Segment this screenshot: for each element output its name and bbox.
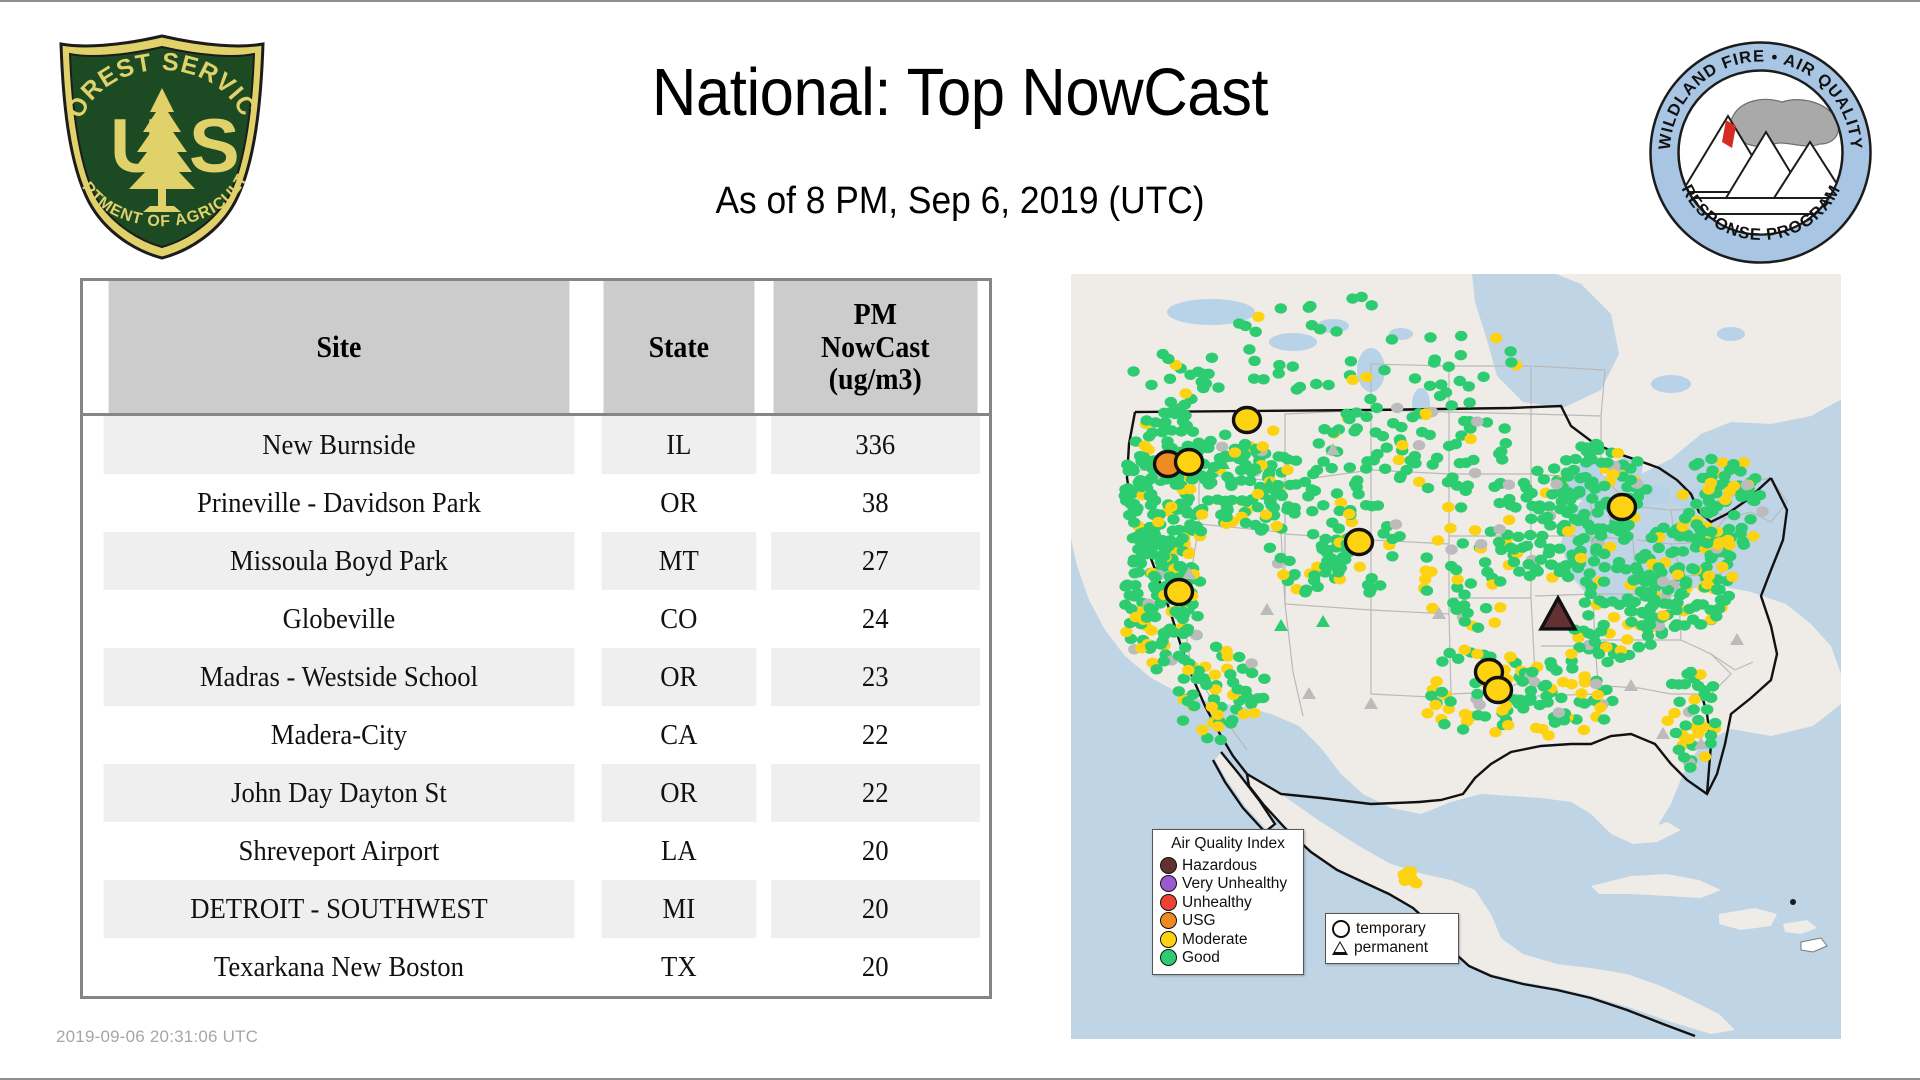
monitor-dot [1122, 483, 1134, 493]
site-type-permanent-label: permanent [1354, 940, 1428, 956]
monitor-dot [1675, 588, 1687, 598]
monitor-dot [1429, 700, 1441, 710]
monitor-dot [1143, 603, 1155, 613]
monitor-dot [1715, 595, 1727, 605]
monitor-dot [1145, 380, 1157, 390]
monitor-dot [1304, 301, 1316, 311]
monitor-dot [1479, 557, 1491, 567]
monitor-dot [1463, 397, 1475, 407]
monitor-dot [1607, 469, 1619, 479]
monitor-dot [1128, 591, 1140, 601]
monitor-dot [1268, 502, 1280, 512]
page-title: National: Top NowCast [426, 54, 1493, 131]
monitor-dot [1706, 465, 1718, 475]
monitor-dot [1198, 673, 1210, 683]
monitor-dot [1135, 546, 1147, 556]
monitor-dot [1420, 566, 1432, 576]
table-row: Madras - Westside SchoolOR23 [83, 648, 989, 706]
table-row: New BurnsideIL336 [83, 415, 989, 475]
monitor-dot [1219, 430, 1231, 440]
aqi-legend-entry: Hazardous [1160, 856, 1296, 875]
monitor-dot [1458, 590, 1470, 600]
monitor-dot [1443, 362, 1455, 372]
cell-state: CA [602, 706, 756, 764]
site-type-temporary: temporary [1332, 919, 1452, 938]
site-type-temporary-label: temporary [1356, 921, 1426, 937]
column-header-site: Site [109, 281, 570, 415]
table-row: Prineville - Davidson ParkOR38 [83, 474, 989, 532]
monitor-dot [1601, 458, 1613, 468]
monitor-dot [1148, 581, 1160, 591]
monitor-dot [1724, 551, 1736, 561]
monitor-dot [1312, 582, 1324, 592]
cell-site: Prineville - Davidson Park [103, 474, 574, 532]
monitor-dot [1347, 375, 1359, 385]
table-row: GlobevilleCO24 [83, 590, 989, 648]
monitor-dot [1612, 448, 1624, 458]
monitor-dot [1560, 455, 1572, 465]
cell-site: Madera-City [103, 706, 574, 764]
monitor-dot [1180, 388, 1192, 398]
monitor-dot [1479, 711, 1491, 721]
monitor-dot [1215, 735, 1227, 745]
monitor-dot [1469, 468, 1481, 478]
monitor-dot [1395, 422, 1407, 432]
monitor-dot [1366, 501, 1378, 511]
table-row: Madera-CityCA22 [83, 706, 989, 764]
monitor-dot [1243, 344, 1255, 354]
monitor-dot [1421, 552, 1433, 562]
monitor-dot [1443, 648, 1455, 658]
monitor-dot [1565, 649, 1577, 659]
monitor-dot [1548, 463, 1560, 473]
monitor-dot [1158, 551, 1170, 561]
monitor-dot [1671, 598, 1683, 608]
cell-site: John Day Dayton St [103, 764, 574, 822]
monitor-dot [1432, 535, 1444, 545]
monitor-dot [1152, 517, 1164, 527]
monitor-dot [1705, 454, 1717, 464]
monitor-dot [1705, 693, 1717, 703]
cell-state: MI [602, 880, 756, 938]
monitor-dot [1310, 379, 1322, 389]
monitor-dot [1683, 734, 1695, 744]
cell-pm-nowcast: 20 [772, 938, 980, 996]
monitor-dot [1424, 381, 1436, 391]
highlighted-site-circle[interactable] [1609, 495, 1636, 520]
monitor-dot [1163, 408, 1175, 418]
monitor-dot [1699, 506, 1711, 516]
table-header-row: Site State PM NowCast (ug/m3) [83, 281, 989, 415]
monitor-dot [1396, 440, 1408, 450]
monitor-dot [1173, 479, 1185, 489]
cell-site: Shreveport Airport [103, 822, 574, 880]
monitor-dot [1175, 403, 1187, 413]
monitor-dot [1573, 488, 1585, 498]
monitor-dot [1626, 606, 1638, 616]
aqi-legend-entry: Very Unhealthy [1160, 875, 1296, 894]
monitor-dot [1184, 484, 1196, 494]
monitor-dot [1586, 493, 1598, 503]
monitor-dot [1212, 710, 1224, 720]
monitor-dot [1421, 708, 1433, 718]
monitor-dot [1390, 519, 1402, 529]
monitor-dot [1344, 462, 1356, 472]
monitor-dot [1308, 570, 1320, 580]
monitor-dot [1430, 676, 1442, 686]
monitor-dot [1736, 523, 1748, 533]
monitor-dot [1541, 512, 1553, 522]
monitor-dot [1471, 689, 1483, 699]
monitor-dot [1364, 394, 1376, 404]
monitor-dot [1264, 543, 1276, 553]
monitor-dot [1687, 614, 1699, 624]
monitor-dot [1598, 577, 1610, 587]
monitor-dot [1494, 602, 1506, 612]
highlighted-site-circle[interactable] [1234, 408, 1261, 433]
monitor-dot [1267, 426, 1279, 436]
monitor-dot [1444, 696, 1456, 706]
cell-pm-nowcast: 22 [772, 706, 980, 764]
monitor-dot [1598, 714, 1610, 724]
monitor-dot [1531, 466, 1543, 476]
monitor-dot [1489, 618, 1501, 628]
monitor-dot [1550, 665, 1562, 675]
monitor-dot [1444, 523, 1456, 533]
cell-pm-nowcast: 27 [772, 532, 980, 590]
monitor-dot [1386, 551, 1398, 561]
monitor-dot [1273, 368, 1285, 378]
highlighted-site-circle[interactable] [1166, 580, 1193, 605]
monitor-dot [1327, 427, 1339, 437]
monitor-dot [1738, 457, 1750, 467]
monitor-dot [1281, 465, 1293, 475]
monitor-dot [1689, 460, 1701, 470]
aqi-legend: Air Quality Index HazardousVery Unhealth… [1152, 829, 1304, 975]
monitor-dot [1362, 580, 1374, 590]
monitor-dot [1592, 445, 1604, 455]
monitor-dot [1646, 533, 1658, 543]
monitor-dot [1177, 416, 1189, 426]
monitor-dot [1621, 634, 1633, 644]
monitor-dot [1534, 700, 1546, 710]
monitor-dot [1438, 719, 1450, 729]
footer-timestamp: 2019-09-06 20:31:06 UTC [56, 1027, 258, 1047]
monitor-dot [1196, 509, 1208, 519]
fs-letter-s: S [189, 104, 240, 189]
aqi-legend-label: Good [1182, 950, 1220, 966]
monitor-dot [1582, 610, 1594, 620]
monitor-dot [1138, 452, 1150, 462]
monitor-dot [1723, 524, 1735, 534]
monitor-dot [1238, 709, 1250, 719]
monitor-dot [1562, 526, 1574, 536]
monitor-dot [1680, 720, 1692, 730]
monitor-dot [1455, 350, 1467, 360]
monitor-dot [1343, 509, 1355, 519]
monitor-dot [1307, 529, 1319, 539]
cell-pm-nowcast: 20 [772, 822, 980, 880]
monitor-dot [1502, 720, 1514, 730]
monitor-dot [1248, 708, 1260, 718]
monitor-dot [1165, 502, 1177, 512]
monitor-dot [1145, 641, 1157, 651]
aqi-swatch-icon [1160, 949, 1177, 966]
monitor-dot [1615, 653, 1627, 663]
monitor-dot [1525, 514, 1537, 524]
monitor-dot [1472, 623, 1484, 633]
monitor-dot [1680, 576, 1692, 586]
monitor-dot [1536, 531, 1548, 541]
monitor-dot [1719, 471, 1731, 481]
monitor-dot [1306, 506, 1318, 516]
page-subtitle: As of 8 PM, Sep 6, 2019 (UTC) [421, 180, 1500, 223]
monitor-dot [1549, 718, 1561, 728]
aqi-legend-label: USG [1182, 913, 1216, 929]
monitor-dot [1409, 373, 1421, 383]
monitor-dot [1598, 598, 1610, 608]
monitor-dot [1747, 495, 1759, 505]
monitor-dot [1425, 691, 1437, 701]
monitor-dot [1277, 570, 1289, 580]
monitor-dot [1245, 658, 1257, 668]
monitor-dot [1306, 320, 1318, 330]
monitor-dot [1618, 535, 1630, 545]
monitor-dot [1250, 327, 1262, 337]
aqi-legend-label: Hazardous [1182, 858, 1257, 874]
cell-state: OR [602, 474, 756, 532]
air-quality-map[interactable]: Air Quality Index HazardousVery Unhealth… [1071, 274, 1841, 1039]
monitor-dot [1459, 616, 1471, 626]
monitor-dot [1685, 667, 1697, 677]
monitor-dot [1290, 456, 1302, 466]
monitor-dot [1179, 642, 1191, 652]
monitor-dot [1291, 384, 1303, 394]
monitor-dot [1722, 535, 1734, 545]
monitor-dot [1175, 426, 1187, 436]
monitor-dot [1690, 499, 1702, 509]
cell-pm-nowcast: 38 [772, 474, 980, 532]
monitor-dot [1744, 514, 1756, 524]
monitor-dot [1701, 704, 1713, 714]
monitor-dot [1306, 484, 1318, 494]
cell-site: DETROIT - SOUTHWEST [103, 880, 574, 938]
monitor-dot [1496, 454, 1508, 464]
monitor-dot [1428, 357, 1440, 367]
monitor-dot [1504, 346, 1516, 356]
monitor-dot [1158, 628, 1170, 638]
monitor-dot [1490, 333, 1502, 343]
column-header-pm-line1: PM [854, 296, 897, 331]
monitor-dot [1290, 479, 1302, 489]
monitor-dot [1191, 611, 1203, 621]
monitor-dot [1697, 599, 1709, 609]
cell-pm-nowcast: 22 [772, 764, 980, 822]
site-type-permanent: permanent [1332, 938, 1452, 957]
monitor-dot [1226, 715, 1238, 725]
monitor-dot [1710, 611, 1722, 621]
monitor-dot [1331, 488, 1343, 498]
monitor-dot [1184, 519, 1196, 529]
monitor-dot [1620, 522, 1632, 532]
cell-pm-nowcast: 336 [772, 415, 980, 475]
monitor-dot [1130, 612, 1142, 622]
monitor-dot [1554, 504, 1566, 514]
monitor-dot [1163, 541, 1175, 551]
monitor-dot [1461, 608, 1473, 618]
monitor-dot [1394, 471, 1406, 481]
aqi-legend-entry: Unhealthy [1160, 893, 1296, 912]
cell-pm-nowcast: 20 [772, 880, 980, 938]
monitor-dot [1270, 521, 1282, 531]
monitor-dot [1688, 694, 1700, 704]
monitor-dot [1409, 451, 1421, 461]
monitor-dot [1282, 501, 1294, 511]
monitor-dot [1546, 560, 1558, 570]
monitor-dot [1711, 584, 1723, 594]
monitor-dot [1699, 752, 1711, 762]
highlighted-site-circle[interactable] [1485, 678, 1512, 703]
monitor-dot [1127, 366, 1139, 376]
monitor-dot [1249, 463, 1261, 473]
aqi-legend-entry: Good [1160, 949, 1296, 968]
monitor-dot [1458, 645, 1470, 655]
monitor-dot [1474, 700, 1486, 710]
monitor-dot [1709, 718, 1721, 728]
monitor-dot [1644, 620, 1656, 630]
monitor-dot [1738, 540, 1750, 550]
monitor-dot [1590, 546, 1602, 556]
monitor-dot [1326, 463, 1338, 473]
monitor-dot [1692, 715, 1704, 725]
monitor-dot [1578, 725, 1590, 735]
monitor-dot [1421, 586, 1433, 596]
monitor-dot [1391, 403, 1403, 413]
monitor-dot [1349, 479, 1361, 489]
monitor-dot [1221, 512, 1233, 522]
circle-outline-icon [1332, 920, 1350, 938]
monitor-dot [1465, 578, 1477, 588]
monitor-dot [1670, 728, 1682, 738]
monitor-dot [1450, 439, 1462, 449]
monitor-dot [1635, 574, 1647, 584]
monitor-dot [1442, 502, 1454, 512]
monitor-dot [1257, 441, 1269, 451]
monitor-dot [1360, 412, 1372, 422]
monitor-dot [1322, 557, 1334, 567]
monitor-dot [1688, 564, 1700, 574]
monitor-dot [1688, 704, 1700, 714]
monitor-dot [1707, 681, 1719, 691]
monitor-dot [1508, 557, 1520, 567]
monitor-dot [1505, 543, 1517, 553]
monitor-dot [1454, 376, 1466, 386]
monitor-dot [1530, 564, 1542, 574]
monitor-dot [1196, 725, 1208, 735]
monitor-dot [1424, 430, 1436, 440]
wfaqrp-logo: WILDLAND FIRE • AIR QUALITY RESPONSE PRO… [1648, 40, 1873, 265]
monitor-dot [1684, 762, 1696, 772]
monitor-dot [1436, 656, 1448, 666]
cell-site: Globeville [103, 590, 574, 648]
monitor-dot [1173, 686, 1185, 696]
monitor-dot [1593, 649, 1605, 659]
aqi-swatch-icon [1160, 931, 1177, 948]
monitor-dot [1581, 446, 1593, 456]
cell-state: CO [602, 590, 756, 648]
monitor-dot [1625, 617, 1637, 627]
monitor-dot [1625, 475, 1637, 485]
monitor-dot [1503, 480, 1515, 490]
monitor-dot [1462, 480, 1474, 490]
monitor-dot [1450, 605, 1462, 615]
monitor-dot [1578, 698, 1590, 708]
highlighted-site-circle[interactable] [1346, 530, 1373, 555]
monitor-dot [1141, 612, 1153, 622]
monitor-dot [1728, 481, 1740, 491]
monitor-dot [1657, 610, 1669, 620]
monitor-dot [1345, 356, 1357, 366]
monitor-dot [1550, 479, 1562, 489]
monitor-dot [1640, 587, 1652, 597]
monitor-dot [1252, 312, 1264, 322]
monitor-dot [1275, 553, 1287, 563]
monitor-dot [1233, 318, 1245, 328]
monitor-dot [1446, 400, 1458, 410]
monitor-dot [1275, 303, 1287, 313]
monitor-dot [1553, 544, 1565, 554]
monitor-dot [1187, 427, 1199, 437]
monitor-dot [1589, 637, 1601, 647]
monitor-dot [1167, 514, 1179, 524]
monitor-dot [1127, 557, 1139, 567]
monitor-dot [1386, 534, 1398, 544]
column-header-state-label: State [648, 329, 708, 364]
monitor-dot [1360, 372, 1372, 382]
monitor-dot [1613, 557, 1625, 567]
monitor-dot [1701, 538, 1713, 548]
monitor-dot [1204, 436, 1216, 446]
monitor-dot [1235, 465, 1247, 475]
monitor-dot [1321, 547, 1333, 557]
aqi-legend-label: Very Unhealthy [1182, 876, 1287, 892]
monitor-dot [1622, 597, 1634, 607]
monitor-dot [1661, 716, 1673, 726]
monitor-dot [1144, 491, 1156, 501]
monitor-dot [1572, 516, 1584, 526]
monitor-dot [1413, 440, 1425, 450]
monitor-dot [1524, 693, 1536, 703]
monitor-dot [1435, 379, 1447, 389]
monitor-dot [1341, 409, 1353, 419]
highlighted-site-circle[interactable] [1176, 450, 1203, 475]
monitor-dot [1526, 501, 1538, 511]
monitor-dot [1162, 354, 1174, 364]
monitor-dot [1499, 423, 1511, 433]
monitor-dot [1232, 684, 1244, 694]
monitor-dot [1258, 674, 1270, 684]
monitor-dot [1471, 649, 1483, 659]
column-header-pm-line3: (ug/m3) [829, 361, 922, 396]
monitor-dot [1535, 555, 1547, 565]
monitor-dot [1566, 663, 1578, 673]
monitor-dot [1203, 479, 1215, 489]
table-row: John Day Dayton StOR22 [83, 764, 989, 822]
monitor-dot [1233, 652, 1245, 662]
aqi-swatch-icon [1160, 894, 1177, 911]
monitor-dot [1566, 679, 1578, 689]
monitor-dot [1177, 715, 1189, 725]
